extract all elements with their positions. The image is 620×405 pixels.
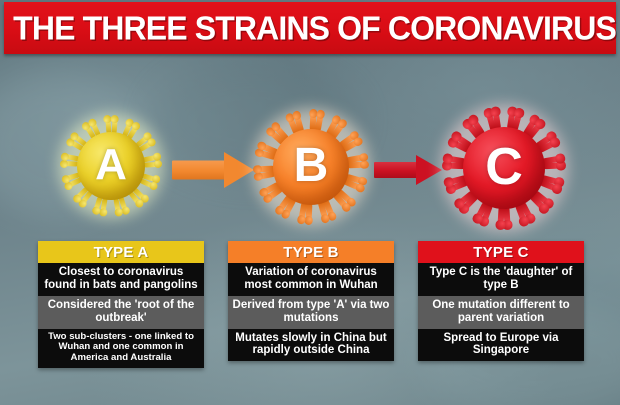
panel-row: Type C is the 'daughter' of type B (418, 263, 584, 296)
virus-particle-c: C (445, 109, 563, 227)
title-bar: THE THREE STRAINS OF CORONAVIRUS (4, 2, 616, 54)
arrow-a-to-b-head (224, 152, 254, 188)
virus-b-letter: B (256, 142, 366, 190)
panel-row: Two sub-clusters - one linked to Wuhan a… (38, 329, 204, 368)
virus-particle-b: B (256, 112, 366, 222)
panel-row: Derived from type 'A' via two mutations (228, 296, 394, 329)
panel-row: Spread to Europe via Singapore (418, 329, 584, 362)
page-title: THE THREE STRAINS OF CORONAVIRUS (13, 12, 607, 45)
virus-c-letter: C (445, 141, 563, 193)
panel-type-b: TYPE BVariation of coronavirus most comm… (228, 241, 394, 361)
infographic-root: THE THREE STRAINS OF CORONAVIRUS A B C T… (0, 0, 620, 405)
arrow-a-to-b-shaft (172, 161, 226, 180)
panel-header-1: TYPE A (38, 241, 204, 263)
arrow-b-to-c-head (416, 155, 442, 185)
arrow-b-to-c (374, 155, 444, 185)
arrow-b-to-c-shaft (374, 162, 418, 178)
panel-type-c: TYPE CType C is the 'daughter' of type B… (418, 241, 584, 361)
panel-row: Variation of coronavirus most common in … (228, 263, 394, 296)
panel-header-3: TYPE C (418, 241, 584, 263)
virus-particle-a: A (62, 117, 160, 215)
panel-row: Mutates slowly in China but rapidly outs… (228, 329, 394, 362)
panel-header-2: TYPE B (228, 241, 394, 263)
arrow-a-to-b (172, 152, 254, 188)
panel-row: One mutation different to parent variati… (418, 296, 584, 329)
virus-a-letter: A (62, 143, 160, 187)
panel-row: Closest to coronavirus found in bats and… (38, 263, 204, 296)
panel-row: Considered the 'root of the outbreak' (38, 296, 204, 329)
panel-type-a: TYPE AClosest to coronavirus found in ba… (38, 241, 204, 368)
